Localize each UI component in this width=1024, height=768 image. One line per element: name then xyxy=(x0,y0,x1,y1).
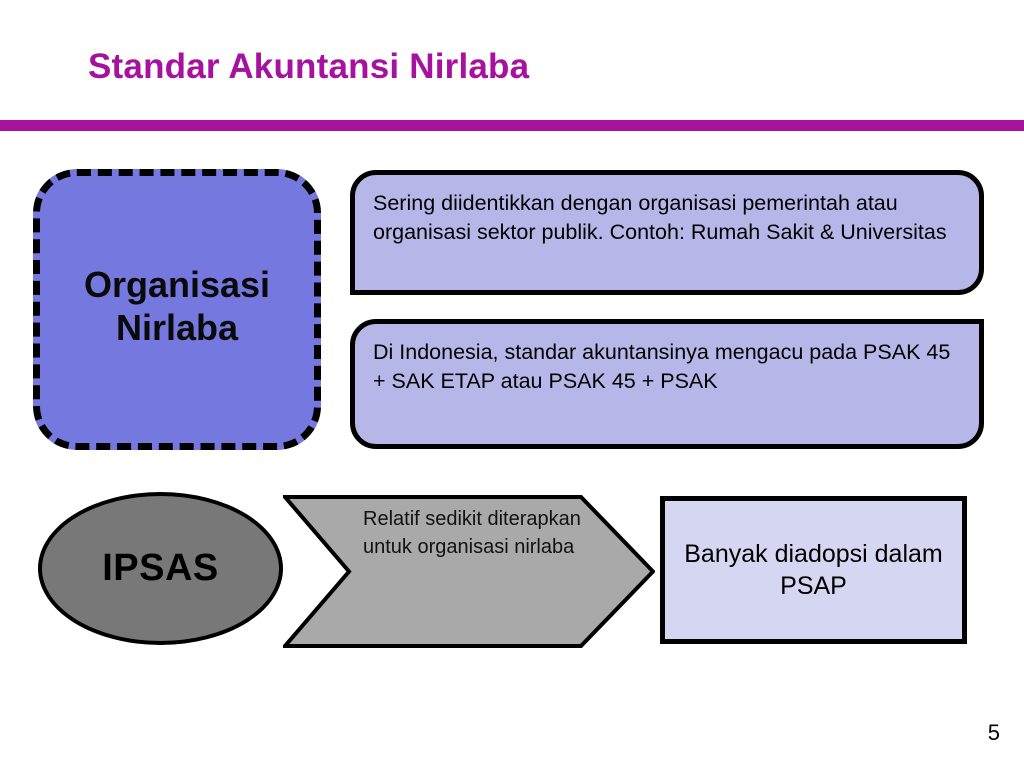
chevron-arrow: Relatif sedikit diterapkan untuk organis… xyxy=(283,494,655,649)
organisasi-nirlaba-box: OrganisasiNirlaba xyxy=(33,169,321,450)
chevron-arrow-label: Relatif sedikit diterapkan untuk organis… xyxy=(363,506,593,561)
result-box-psap: Banyak diadopsi dalam PSAP xyxy=(660,496,967,644)
ipsas-oval: IPSAS xyxy=(38,492,283,645)
organisasi-nirlaba-label: OrganisasiNirlaba xyxy=(84,264,270,355)
callout-text-standard: Di Indonesia, standar akuntansinya menga… xyxy=(373,338,961,396)
title-divider-rule xyxy=(0,120,1024,131)
result-box-label: Banyak diadopsi dalam PSAP xyxy=(665,538,962,603)
page-title: Standar Akuntansi Nirlaba xyxy=(88,48,948,87)
callout-box-definition: Sering diidentikkan dengan organisasi pe… xyxy=(350,170,984,295)
callout-text-definition: Sering diidentikkan dengan organisasi pe… xyxy=(373,189,961,247)
ipsas-label: IPSAS xyxy=(102,547,219,590)
page-number: 5 xyxy=(988,720,1000,746)
callout-box-standard: Di Indonesia, standar akuntansinya menga… xyxy=(350,319,984,449)
